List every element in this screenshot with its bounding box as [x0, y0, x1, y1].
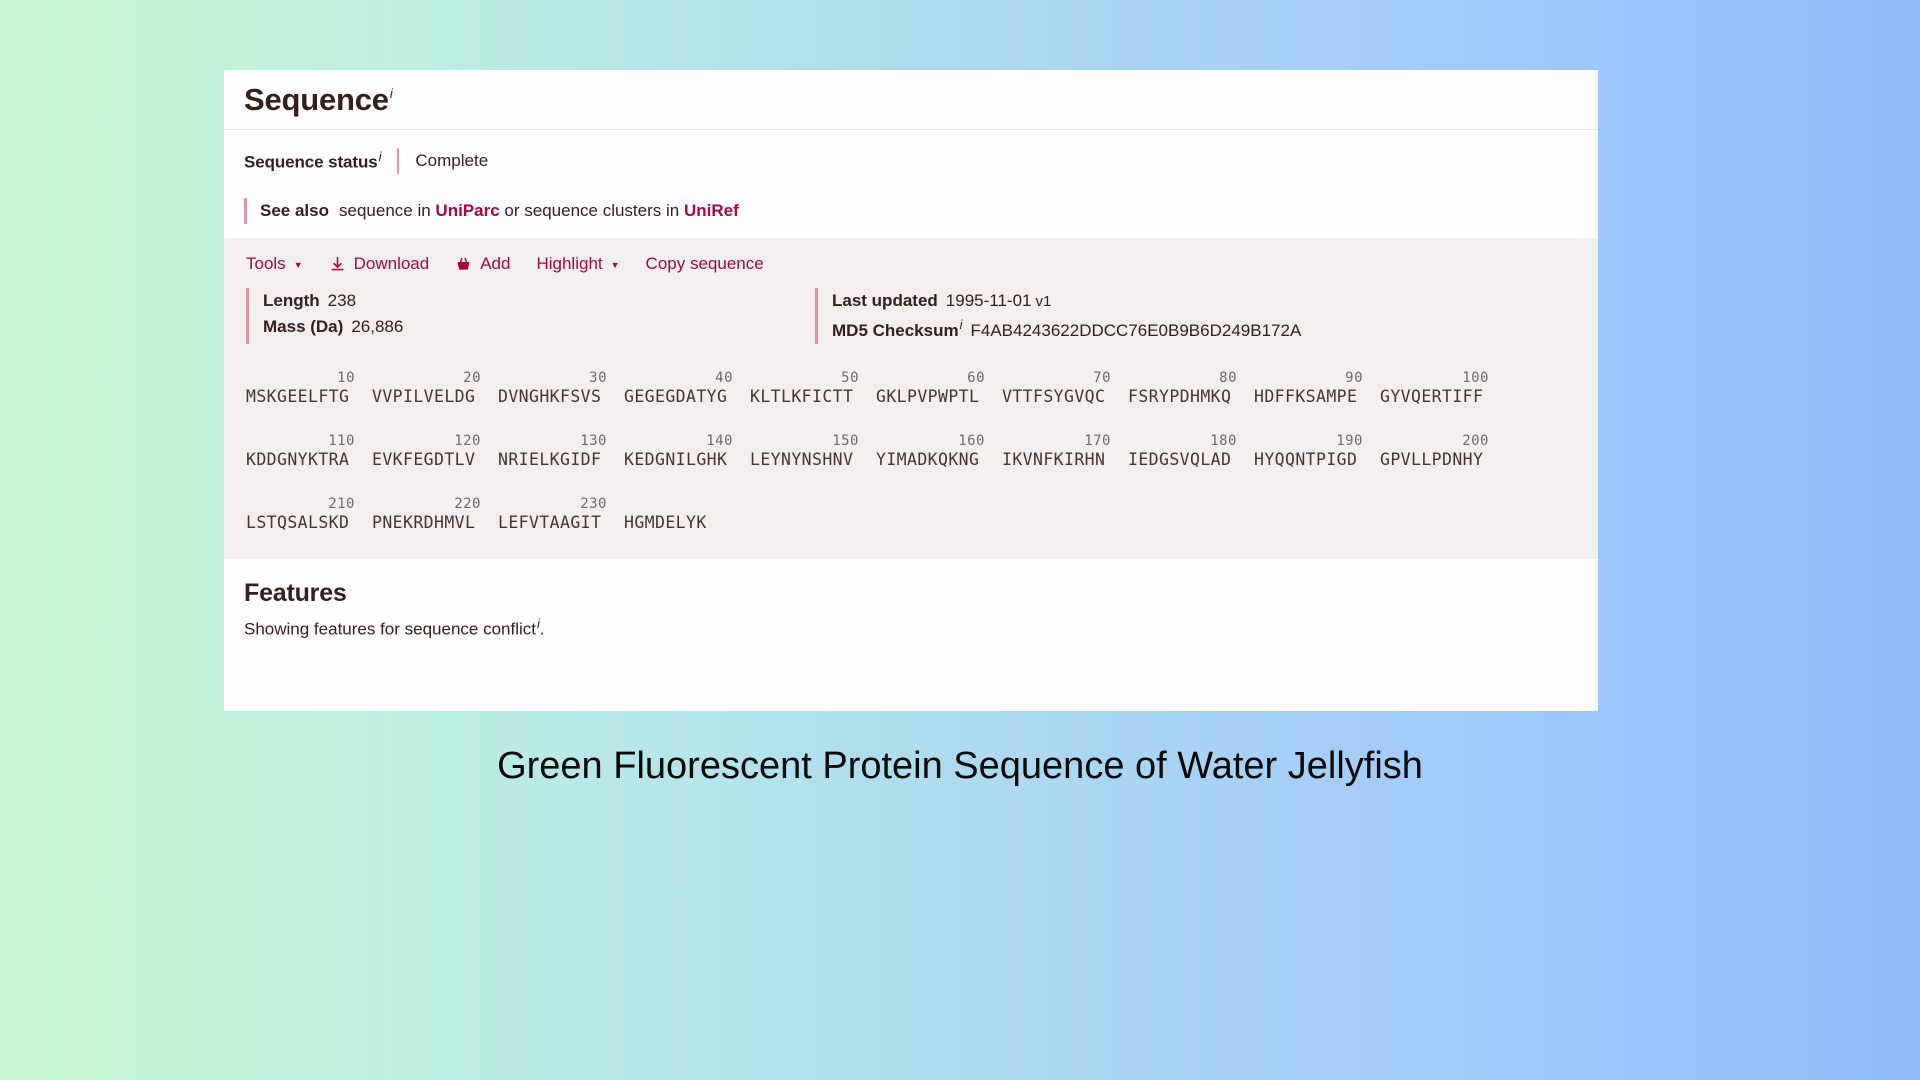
download-icon — [329, 256, 346, 273]
sequence-block[interactable]: HGMDELYK — [624, 496, 733, 533]
see-also-row: See also sequence in UniParc or sequence… — [244, 198, 1598, 224]
sequence-block[interactable]: 210LSTQSALSKD — [246, 496, 355, 533]
highlight-button[interactable]: Highlight ▼ — [536, 254, 619, 274]
highlight-button-label: Highlight — [536, 254, 602, 274]
sequence-status-label-text: Sequence status — [244, 153, 378, 172]
sequence-panel: Tools ▼ Download Add — [224, 238, 1598, 559]
page-title: Sequencei — [244, 82, 393, 118]
sequence-position-label: 210 — [246, 496, 355, 513]
sequence-position-label: 160 — [876, 433, 985, 450]
features-subtitle-text: Showing features for sequence conflict — [244, 619, 536, 638]
length-label: Length — [263, 291, 320, 310]
sequence-block[interactable]: 60GKLPVPWPTL — [876, 370, 985, 407]
sequence-block[interactable]: 40GEGEGDATYG — [624, 370, 733, 407]
sequence-position-label: 140 — [624, 433, 733, 450]
sequence-toolbar: Tools ▼ Download Add — [224, 248, 1598, 280]
sequence-position-label — [624, 496, 733, 513]
see-also-text-1: sequence in — [339, 201, 431, 221]
sequence-block[interactable]: 120EVKFEGDTLV — [372, 433, 481, 470]
add-button-label: Add — [480, 254, 510, 274]
sequence-residues[interactable]: NRIELKGIDF — [498, 450, 607, 470]
tools-button-label: Tools — [246, 254, 286, 274]
sequence-block[interactable]: 150LEYNYNSHNV — [750, 433, 859, 470]
sequence-block[interactable]: 180IEDGSVQLAD — [1128, 433, 1237, 470]
sequence-position-label: 230 — [498, 496, 607, 513]
sequence-residues[interactable]: VTTFSYGVQC — [1002, 387, 1111, 407]
sequence-position-label: 10 — [246, 370, 355, 387]
uniparc-link[interactable]: UniParc — [435, 201, 499, 221]
add-button[interactable]: Add — [455, 254, 510, 274]
sequence-meta-right: Last updated1995-11-01v1 MD5 ChecksumiF4… — [815, 288, 1301, 344]
sequence-residues[interactable]: IKVNFKIRHN — [1002, 450, 1111, 470]
info-icon[interactable]: i — [379, 149, 382, 164]
sequence-residues[interactable]: PNEKRDHMVL — [372, 513, 481, 533]
sequence-position-label: 170 — [1002, 433, 1111, 450]
sequence-residues[interactable]: GPVLLPDNHY — [1380, 450, 1489, 470]
sequence-block[interactable]: 220PNEKRDHMVL — [372, 496, 481, 533]
divider — [397, 148, 399, 174]
sequence-card: Sequencei Sequence statusi Complete See … — [224, 70, 1598, 711]
sequence-position-label: 130 — [498, 433, 607, 450]
sequence-residues[interactable]: VVPILVELDG — [372, 387, 481, 407]
last-updated-label: Last updated — [832, 291, 938, 310]
sequence-residues[interactable]: FSRYPDHMKQ — [1128, 387, 1237, 407]
sequence-status-value: Complete — [415, 151, 488, 171]
sequence-block[interactable]: 200GPVLLPDNHY — [1380, 433, 1489, 470]
sequence-row: 10MSKGEELFTG20VVPILVELDG30DVNGHKFSVS40GE… — [246, 370, 1598, 407]
uniref-link[interactable]: UniRef — [684, 201, 739, 221]
sequence-residues[interactable]: KLTLKFICTT — [750, 387, 859, 407]
mass-value: 26,886 — [351, 317, 403, 336]
chevron-down-icon: ▼ — [294, 261, 303, 270]
sequence-block[interactable]: 140KEDGNILGHK — [624, 433, 733, 470]
sequence-residues[interactable]: MSKGEELFTG — [246, 387, 355, 407]
sequence-position-label: 70 — [1002, 370, 1111, 387]
sequence-block[interactable]: 30DVNGHKFSVS — [498, 370, 607, 407]
info-icon[interactable]: i — [390, 86, 393, 101]
sequence-position-label: 190 — [1254, 433, 1363, 450]
features-subtitle: Showing features for sequence conflicti. — [244, 616, 1578, 640]
sequence-residues[interactable]: GEGEGDATYG — [624, 387, 733, 407]
sequence-status-row: Sequence statusi Complete — [224, 130, 1598, 188]
features-section: Features Showing features for sequence c… — [224, 559, 1598, 640]
sequence-text[interactable]: 10MSKGEELFTG20VVPILVELDG30DVNGHKFSVS40GE… — [224, 370, 1598, 533]
sequence-block[interactable]: 160YIMADKQKNG — [876, 433, 985, 470]
sequence-status-label: Sequence statusi — [244, 149, 381, 173]
sequence-residues[interactable]: YIMADKQKNG — [876, 450, 985, 470]
page-title-text: Sequence — [244, 82, 389, 117]
sequence-position-label: 220 — [372, 496, 481, 513]
sequence-residues[interactable]: KDDGNYKTRA — [246, 450, 355, 470]
sequence-block[interactable]: 190HYQQNTPIGD — [1254, 433, 1363, 470]
sequence-position-label: 50 — [750, 370, 859, 387]
sequence-position-label: 30 — [498, 370, 607, 387]
sequence-position-label: 100 — [1380, 370, 1489, 387]
mass-label: Mass (Da) — [263, 317, 343, 336]
features-subtitle-period: . — [540, 619, 545, 638]
sequence-position-label: 150 — [750, 433, 859, 450]
sequence-residues[interactable]: DVNGHKFSVS — [498, 387, 607, 407]
features-title: Features — [244, 579, 1578, 608]
last-updated-row: Last updated1995-11-01v1 — [832, 288, 1301, 314]
md5-value: F4AB4243622DDCC76E0B9B6D249B172A — [971, 321, 1302, 340]
sequence-residues[interactable]: LEYNYNSHNV — [750, 450, 859, 470]
md5-row: MD5 ChecksumiF4AB4243622DDCC76E0B9B6D249… — [832, 314, 1301, 344]
sequence-block[interactable]: 130NRIELKGIDF — [498, 433, 607, 470]
sequence-block[interactable]: 170IKVNFKIRHN — [1002, 433, 1111, 470]
sequence-block[interactable]: 80FSRYPDHMKQ — [1128, 370, 1237, 407]
download-button-label: Download — [354, 254, 430, 274]
sequence-block[interactable]: 230LEFVTAAGIT — [498, 496, 607, 533]
mass-row: Mass (Da)26,886 — [263, 314, 806, 340]
sequence-block[interactable]: 90HDFFKSAMPE — [1254, 370, 1363, 407]
md5-label-text: MD5 Checksum — [832, 321, 959, 340]
basket-icon — [455, 256, 472, 273]
sequence-residues[interactable]: LEFVTAAGIT — [498, 513, 607, 533]
sequence-block[interactable]: 100GYVQERTIFF — [1380, 370, 1489, 407]
sequence-position-label: 20 — [372, 370, 481, 387]
length-value: 238 — [328, 291, 356, 310]
md5-label: MD5 Checksumi — [832, 321, 963, 340]
sequence-row: 210LSTQSALSKD220PNEKRDHMVL230LEFVTAAGITH… — [246, 496, 1598, 533]
version-badge: v1 — [1036, 293, 1052, 310]
sequence-residues[interactable]: HYQQNTPIGD — [1254, 450, 1363, 470]
sequence-row: 110KDDGNYKTRA120EVKFEGDTLV130NRIELKGIDF1… — [246, 433, 1598, 470]
sequence-residues[interactable]: IEDGSVQLAD — [1128, 450, 1237, 470]
figure-caption: Green Fluorescent Protein Sequence of Wa… — [0, 745, 1920, 788]
sequence-residues[interactable]: HDFFKSAMPE — [1254, 387, 1363, 407]
see-also-text-2: or sequence clusters in — [504, 201, 679, 221]
sequence-residues[interactable]: GKLPVPWPTL — [876, 387, 985, 407]
download-button[interactable]: Download — [329, 254, 430, 274]
sequence-position-label: 90 — [1254, 370, 1363, 387]
card-header: Sequencei — [224, 70, 1598, 130]
length-row: Length238 — [263, 288, 806, 314]
sequence-residues[interactable]: GYVQERTIFF — [1380, 387, 1489, 407]
sequence-block[interactable]: 20VVPILVELDG — [372, 370, 481, 407]
sequence-residues[interactable]: LSTQSALSKD — [246, 513, 355, 533]
sequence-meta-left: Length238 Mass (Da)26,886 — [246, 288, 806, 344]
sequence-position-label: 200 — [1380, 433, 1489, 450]
copy-sequence-button-label: Copy sequence — [646, 254, 764, 274]
info-icon[interactable]: i — [960, 317, 963, 332]
see-also-label: See also — [260, 201, 329, 221]
chevron-down-icon: ▼ — [611, 261, 620, 270]
last-updated-value: 1995-11-01 — [946, 291, 1032, 310]
sequence-meta: Length238 Mass (Da)26,886 Last updated19… — [224, 288, 1598, 344]
sequence-block[interactable]: 10MSKGEELFTG — [246, 370, 355, 407]
sequence-position-label: 80 — [1128, 370, 1237, 387]
sequence-block[interactable]: 70VTTFSYGVQC — [1002, 370, 1111, 407]
tools-button[interactable]: Tools ▼ — [246, 254, 303, 274]
sequence-residues[interactable]: EVKFEGDTLV — [372, 450, 481, 470]
sequence-residues[interactable]: KEDGNILGHK — [624, 450, 733, 470]
sequence-block[interactable]: 110KDDGNYKTRA — [246, 433, 355, 470]
sequence-residues[interactable]: HGMDELYK — [624, 513, 733, 533]
sequence-position-label: 110 — [246, 433, 355, 450]
sequence-block[interactable]: 50KLTLKFICTT — [750, 370, 859, 407]
sequence-position-label: 180 — [1128, 433, 1237, 450]
sequence-position-label: 40 — [624, 370, 733, 387]
copy-sequence-button[interactable]: Copy sequence — [646, 254, 764, 274]
sequence-position-label: 120 — [372, 433, 481, 450]
sequence-position-label: 60 — [876, 370, 985, 387]
